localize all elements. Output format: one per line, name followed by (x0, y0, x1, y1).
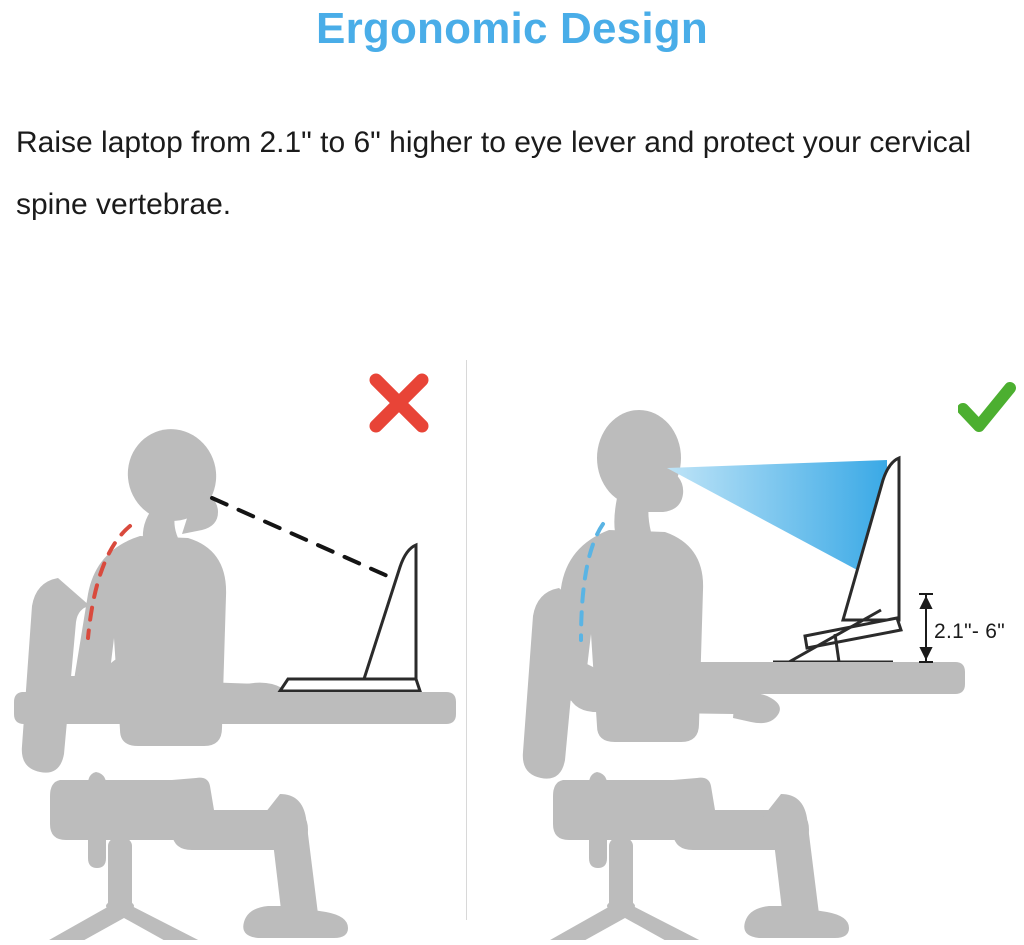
page-subtitle: Raise laptop from 2.1" to 6" higher to e… (16, 112, 1008, 236)
ergonomic-design-infographic: Ergonomic Design Raise laptop from 2.1" … (0, 0, 1024, 945)
height-measurement-label: 2.1"- 6" (934, 620, 1005, 644)
sight-line-dashed (212, 498, 392, 578)
laptop-flat (280, 545, 420, 691)
height-measure-arrow (919, 594, 933, 662)
page-title: Ergonomic Design (0, 2, 1024, 56)
check-mark-icon (958, 382, 1016, 434)
cross-mark-icon (368, 372, 430, 434)
